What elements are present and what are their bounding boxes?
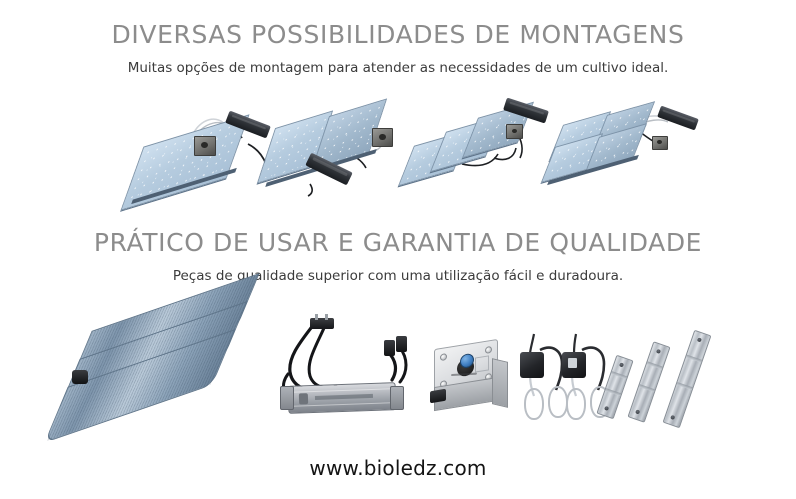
mounting-rail <box>627 341 670 423</box>
dimmer-module <box>652 136 668 150</box>
driver-end-cap <box>390 386 404 410</box>
product-single-panel-kit <box>130 92 270 197</box>
footer-website-url[interactable]: www.bioledz.com <box>0 456 796 480</box>
plug-prong <box>325 314 328 320</box>
driver-end-cap <box>280 386 294 410</box>
section-subtitle-mounting: Muitas opções de montagem para atender a… <box>0 60 796 76</box>
product-led-power-driver <box>272 318 418 430</box>
product-rotary-dimmer-box <box>428 336 520 428</box>
screw-icon <box>440 353 447 361</box>
carabiner-hook-icon <box>548 386 568 418</box>
product-triple-panel-kit <box>406 92 552 197</box>
section-heading-quality: PRÁTICO DE USAR E GARANTIA DE QUALIDADE <box>0 228 796 257</box>
driver-body <box>288 382 397 414</box>
screw-icon <box>485 346 492 354</box>
dimmer-side-face <box>492 358 508 408</box>
driver-label <box>299 393 308 404</box>
promo-banner: DIVERSAS POSSIBILIDADES DE MONTAGENS Mui… <box>0 0 796 499</box>
output-connector <box>384 340 395 356</box>
driver-print <box>315 394 373 400</box>
carabiner-hook-icon <box>524 388 544 420</box>
mounting-rail <box>663 330 712 429</box>
product-aluminium-mounting-rails <box>604 330 716 430</box>
waterproof-connector <box>72 370 88 384</box>
plug-prong <box>315 314 318 320</box>
section-heading-mounting: DIVERSAS POSSIBILIDADES DE MONTAGENS <box>0 20 796 49</box>
dimmer-cable-gland <box>430 389 446 404</box>
dimmer-module <box>194 136 216 156</box>
product-quad-panel-kit <box>548 92 698 197</box>
ac-plug-icon <box>310 318 334 329</box>
product-double-panel-kit <box>266 92 408 197</box>
ratchet-lever <box>568 358 577 368</box>
section-subtitle-quality: Peças de qualidade superior com uma util… <box>0 268 796 284</box>
dimmer-plate <box>475 355 489 372</box>
dimmer-module <box>372 128 393 147</box>
dimmer-module <box>506 124 523 139</box>
carabiner-hook-icon <box>566 388 586 420</box>
ratchet-pulley <box>520 352 544 378</box>
product-ribbed-led-panel <box>58 300 270 430</box>
output-connector <box>396 336 407 352</box>
